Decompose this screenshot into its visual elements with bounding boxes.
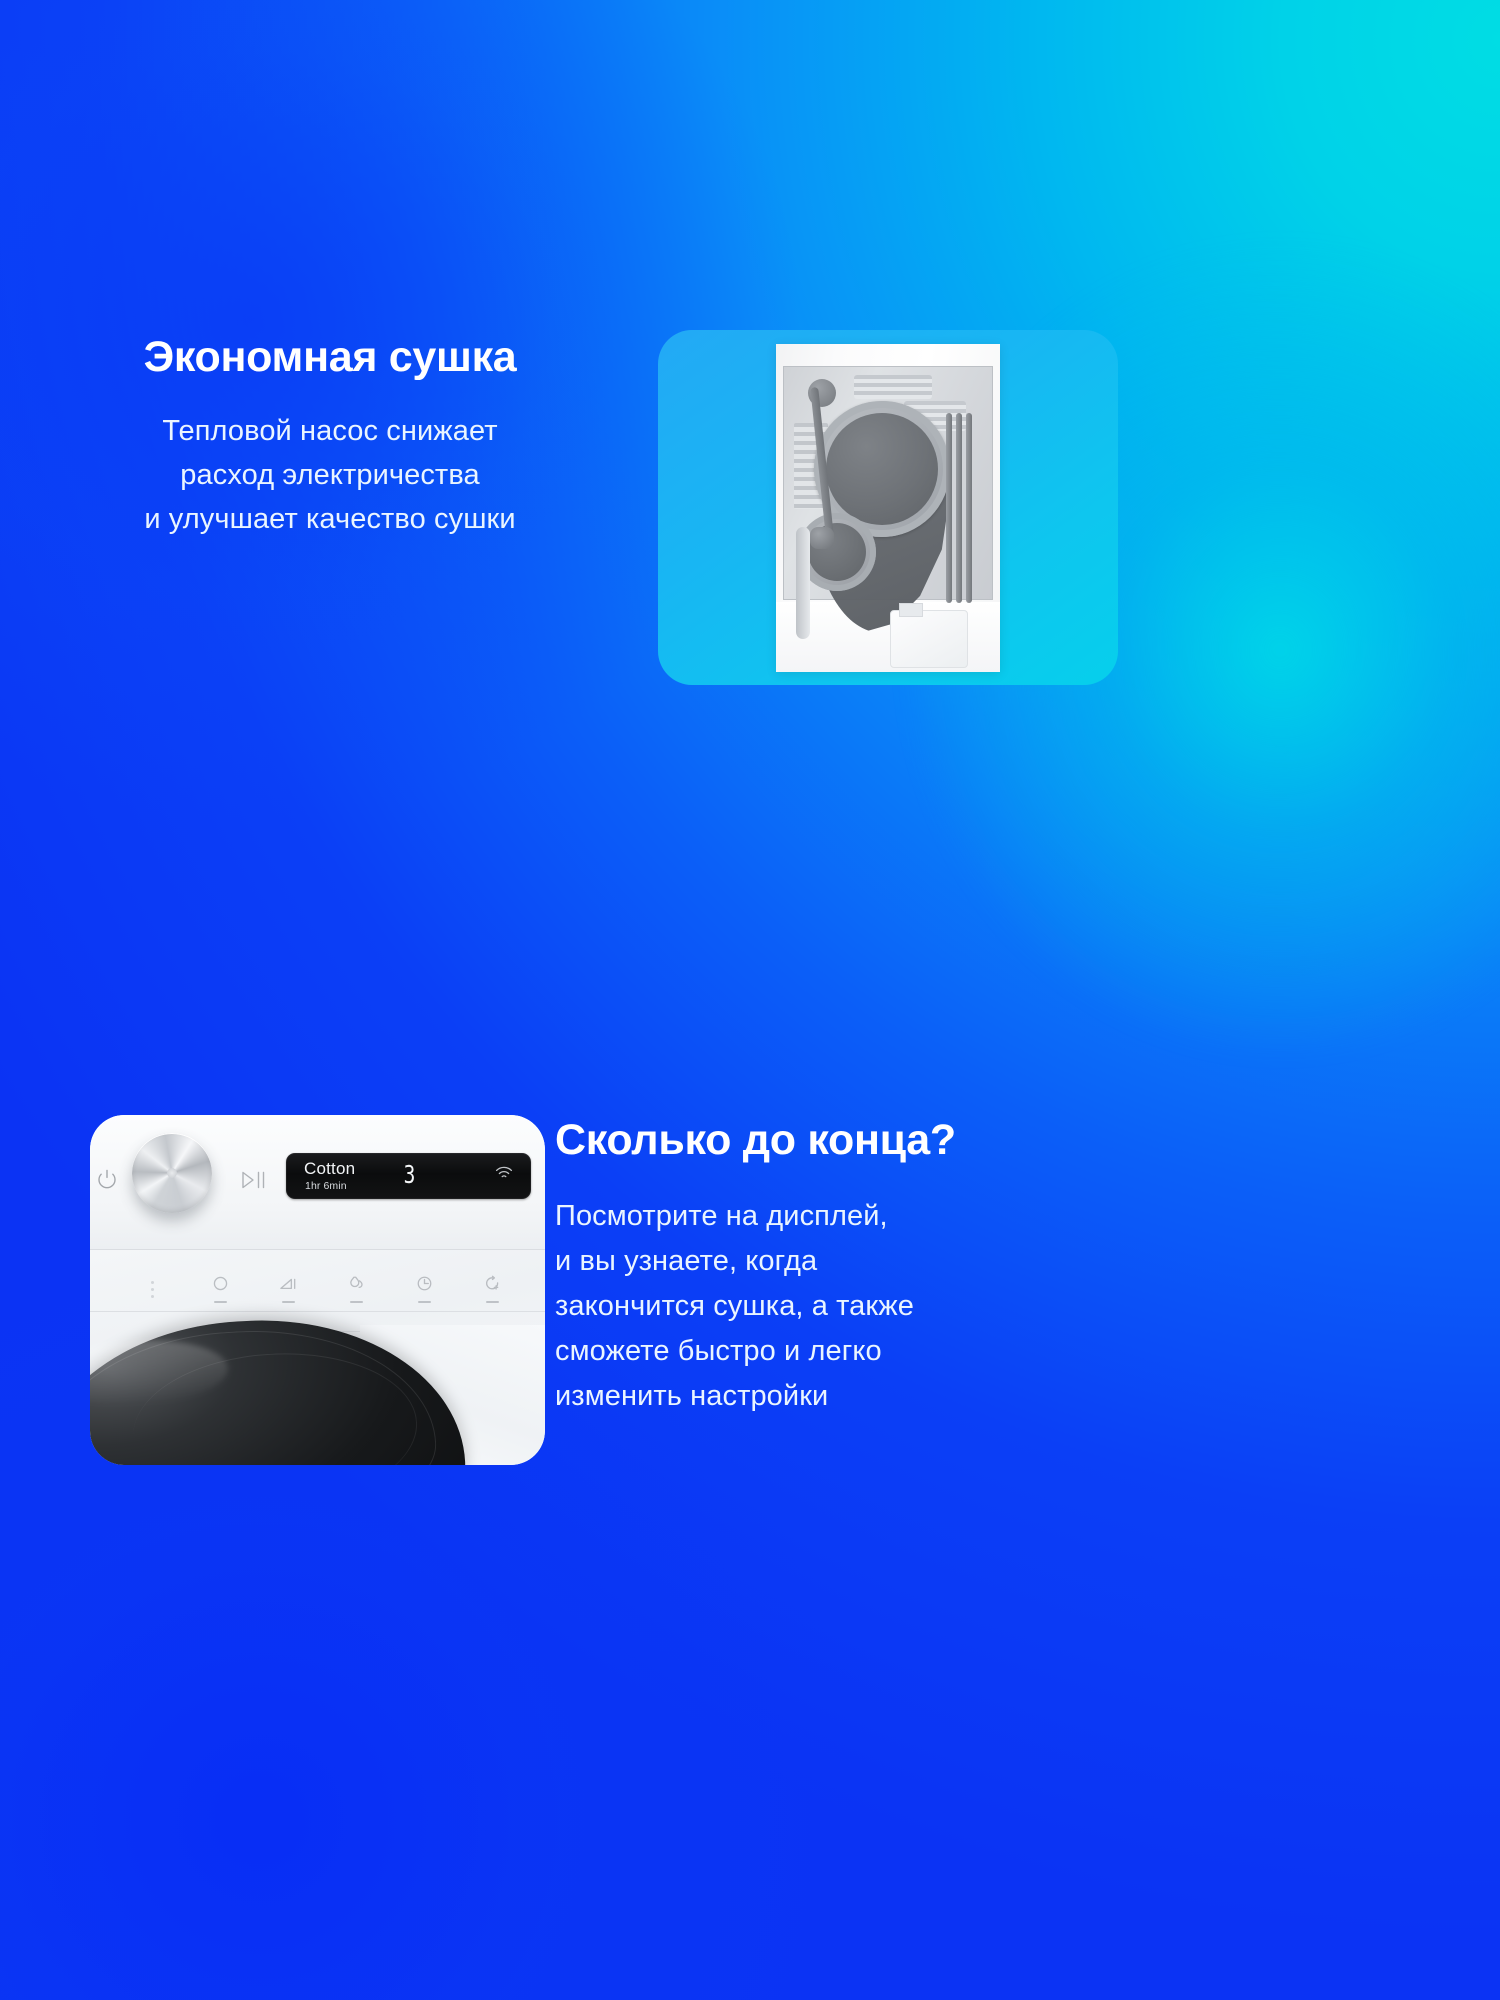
dot-1	[151, 1281, 154, 1284]
dryer-control-panel-photo: Cotton 1hr 6min 3	[90, 1115, 545, 1465]
water-drop-icon	[347, 1275, 366, 1292]
dots-indicator	[118, 1281, 186, 1298]
heat-pump-pipe-2	[956, 413, 962, 603]
panel-seam-1	[90, 1249, 545, 1250]
intensity-indicator	[282, 1301, 295, 1303]
delay-timer-indicator	[418, 1301, 431, 1303]
dot-2	[151, 1288, 154, 1291]
time-remaining-body-line-2: и вы узнаете, когда	[555, 1245, 817, 1277]
economy-body-line-2: расход электричества	[180, 459, 479, 491]
time-remaining-body-line-5: изменить настройки	[555, 1380, 828, 1412]
economy-body: Тепловой насос снижает расход электричес…	[40, 409, 620, 541]
time-remaining-heading: Сколько до конца?	[555, 1117, 1145, 1164]
time-remaining-body: Посмотрите на дисплей, и вы узнаете, ког…	[555, 1194, 1145, 1419]
feature-block-economy-drying: Экономная сушка Тепловой насос снижает р…	[0, 330, 1500, 685]
drum-pulley-large-core	[826, 413, 938, 525]
control-panel-image-card: Cotton 1hr 6min 3	[90, 1115, 545, 1465]
program-selector-knob[interactable]	[132, 1133, 212, 1213]
display-program-name: Cotton	[304, 1160, 355, 1177]
hose-connector-bottom	[810, 527, 834, 549]
time-remaining-text-column: Сколько до конца? Посмотрите на дисплей,…	[545, 1115, 1145, 1419]
intensity-button[interactable]	[254, 1276, 322, 1303]
feature-block-time-remaining: Cotton 1hr 6min 3	[0, 1115, 1500, 1465]
condensate-tank	[890, 610, 968, 668]
time-remaining-body-line-3: закончится сушка, а также	[555, 1290, 914, 1322]
economy-body-line-3: и улучшает качество сушки	[144, 503, 515, 535]
time-remaining-body-line-4: сможете быстро и легко	[555, 1335, 882, 1367]
economy-heading: Экономная сушка	[40, 334, 620, 381]
display-time-remaining: 1hr 6min	[305, 1181, 347, 1192]
add-time-button[interactable]	[459, 1275, 527, 1303]
heat-pump-pipe-3	[966, 413, 972, 603]
refresh-plus-icon	[484, 1275, 501, 1292]
steam-button[interactable]	[323, 1275, 391, 1303]
clock-icon	[416, 1275, 433, 1292]
drum-pulley-small	[798, 513, 876, 591]
display-digit: 3	[404, 1162, 416, 1187]
dryness-level-button[interactable]	[186, 1275, 254, 1303]
control-panel-display[interactable]: Cotton 1hr 6min 3	[286, 1153, 531, 1199]
heat-pump-pipe-1	[946, 413, 952, 603]
circle-icon	[212, 1275, 229, 1292]
wifi-icon	[495, 1166, 513, 1180]
heat-pump-pipes	[946, 413, 976, 603]
time-remaining-body-line-1: Посмотрите на дисплей,	[555, 1200, 888, 1232]
economy-image-card	[658, 330, 1118, 685]
steam-indicator	[350, 1301, 363, 1303]
delay-timer-button[interactable]	[391, 1275, 459, 1303]
dryer-rear-heat-pump-photo	[776, 344, 1000, 672]
vent-slots-upper	[854, 375, 932, 399]
signal-level-icon	[279, 1276, 298, 1292]
dryness-level-indicator	[214, 1301, 227, 1303]
dryer-back-plate	[783, 366, 993, 600]
economy-text-column: Экономная сушка Тепловой насос снижает р…	[0, 330, 620, 542]
power-icon[interactable]	[94, 1167, 120, 1193]
page-stage: Экономная сушка Тепловой насос снижает р…	[0, 0, 1500, 2000]
economy-body-line-1: Тепловой насос снижает	[162, 415, 497, 447]
panel-seam-2	[90, 1311, 545, 1312]
dots-icon	[151, 1281, 154, 1298]
add-time-indicator	[486, 1301, 499, 1303]
dot-3	[151, 1295, 154, 1298]
control-buttons-row	[118, 1267, 527, 1311]
play-pause-icon[interactable]	[240, 1169, 268, 1191]
